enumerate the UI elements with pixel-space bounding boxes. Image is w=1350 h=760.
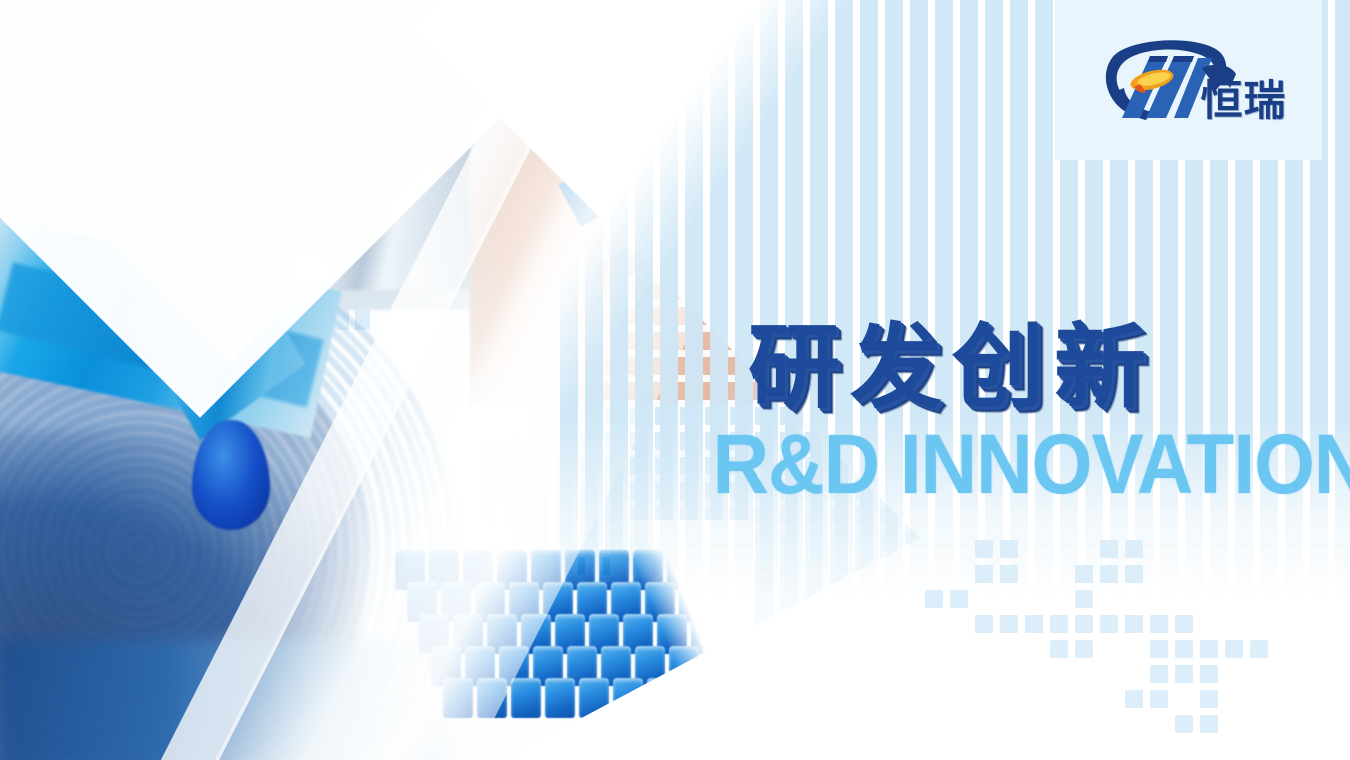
grid-square (975, 615, 993, 633)
grid-square (1200, 715, 1218, 733)
background-grid-scatter (900, 540, 1350, 760)
grid-square (1000, 565, 1018, 583)
headline-title-cn: 研发创新 (748, 322, 1350, 414)
grid-square (1125, 565, 1143, 583)
grid-square (975, 540, 993, 558)
grid-square (1075, 640, 1093, 658)
headline-title-en: R&D INNOVATION (713, 422, 1350, 506)
grid-square (1125, 540, 1143, 558)
grid-square (1250, 640, 1268, 658)
grid-square (1000, 615, 1018, 633)
grid-square (1200, 665, 1218, 683)
grid-square (1100, 615, 1118, 633)
grid-square (1225, 640, 1243, 658)
grid-square (1075, 590, 1093, 608)
grid-square (1100, 565, 1118, 583)
grid-square (1150, 640, 1168, 658)
company-name-cn: 恒瑞 (1200, 67, 1286, 128)
headline-block: 研发创新 R&D INNOVATION (748, 322, 1350, 498)
grid-square (1050, 640, 1068, 658)
grid-square (1175, 615, 1193, 633)
grid-square (1175, 665, 1193, 683)
grid-square (1150, 690, 1168, 708)
grid-square (1125, 615, 1143, 633)
grid-square (925, 590, 943, 608)
grid-square (1150, 665, 1168, 683)
grid-square (1175, 715, 1193, 733)
grid-square (975, 565, 993, 583)
grid-square (1200, 640, 1218, 658)
grid-square (1025, 615, 1043, 633)
grid-square (1050, 615, 1068, 633)
rd-innovation-banner: 恒瑞 研发创新 R&D INNOVATION (0, 0, 1350, 760)
grid-square (1100, 540, 1118, 558)
grid-square (1000, 540, 1018, 558)
grid-square (1175, 640, 1193, 658)
grid-square (1200, 690, 1218, 708)
grid-square (1075, 615, 1093, 633)
grid-square (950, 590, 968, 608)
company-logo-panel: 恒瑞 (1055, 0, 1322, 160)
grid-square (1125, 690, 1143, 708)
grid-square (1150, 615, 1168, 633)
grid-square (1075, 565, 1093, 583)
